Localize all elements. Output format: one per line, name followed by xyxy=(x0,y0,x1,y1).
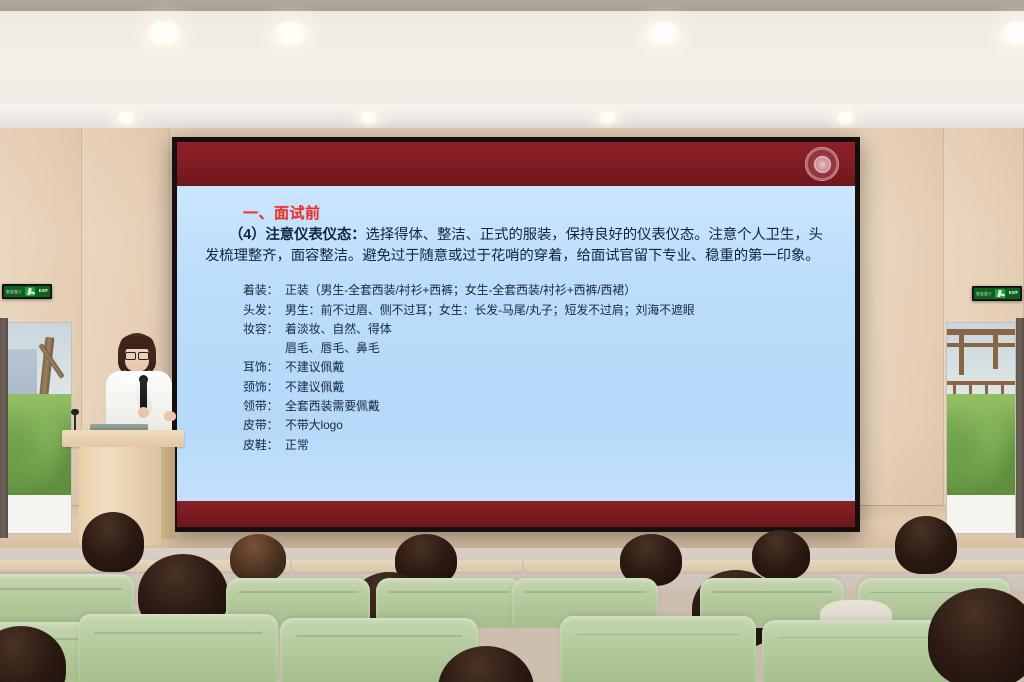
slide-heading: 一、面试前 xyxy=(243,202,827,223)
list-item: 领带：全套西装需要佩戴 xyxy=(243,397,827,416)
exit-sign-right: 安全出口 EXIT xyxy=(972,286,1022,301)
lecture-hall-scene: 安全出口 EXIT 安全出口 EXIT 一、面试前 （4）注意仪表仪态：选择得体… xyxy=(0,0,1024,682)
presenter-fringe xyxy=(120,336,154,349)
list-item-key: 耳饰： xyxy=(243,358,285,377)
podium-microphone-icon xyxy=(74,413,76,431)
exit-sign-face: 安全出口 EXIT xyxy=(4,286,50,297)
list-item-key: 头发： xyxy=(243,301,285,320)
exit-label-en: EXIT xyxy=(39,289,48,294)
list-item: 头发：男生：前不过眉、侧不过耳；女生：长发-马尾/丸子；短发不过肩；刘海不遮眼 xyxy=(243,301,827,320)
list-item-value: 不带大logo xyxy=(285,418,343,432)
projection-screen[interactable]: 一、面试前 （4）注意仪表仪态：选择得体、整洁、正式的服装，保持良好的仪表仪态。… xyxy=(172,137,860,532)
window-pier-left xyxy=(0,318,8,538)
slide-paragraph-lead: （4）注意仪表仪态： xyxy=(229,227,366,243)
list-item-value: 正常 xyxy=(285,438,309,452)
list-item-value: 正装（男生-全套西装/衬衫+西裤；女生-全套西装/衬衫+西裤/西裙） xyxy=(285,283,636,297)
slide-detail-list: 着装：正装（男生-全套西装/衬衫+西裤；女生-全套西装/衬衫+西裤/西裙） 头发… xyxy=(243,281,827,455)
list-item-key: 妆容： xyxy=(243,320,285,339)
exit-label-cn: 安全出口 xyxy=(976,292,991,296)
slide-footer-band xyxy=(177,501,855,527)
list-item-key: 着装： xyxy=(243,281,285,300)
exit-sign-face: 安全出口 EXIT xyxy=(974,288,1020,299)
window-pier-right xyxy=(1016,318,1024,538)
ceiling-downlight xyxy=(645,21,681,47)
ceiling-downlight xyxy=(359,111,378,125)
list-item: 皮鞋：正常 xyxy=(243,436,827,455)
exit-sign-left: 安全出口 EXIT xyxy=(2,284,52,299)
list-item: 耳饰：不建议佩戴 xyxy=(243,358,827,377)
list-item-key: 皮带： xyxy=(243,416,285,435)
ceiling-downlight xyxy=(273,21,309,47)
slide-content: 一、面试前 （4）注意仪表仪态：选择得体、整洁、正式的服装，保持良好的仪表仪态。… xyxy=(177,186,855,501)
ceiling-downlight xyxy=(117,111,136,125)
glasses-icon xyxy=(125,352,149,358)
window-ground xyxy=(947,495,1015,533)
presenter-hand xyxy=(164,411,176,421)
list-item-value: 男生：前不过眉、侧不过耳；女生：长发-马尾/丸子；短发不过肩；刘海不遮眼 xyxy=(285,303,695,317)
list-item: 眉毛、唇毛、鼻毛 xyxy=(243,339,827,358)
pergola-beam xyxy=(947,329,1015,335)
podium-side xyxy=(161,447,175,539)
exit-label-cn: 安全出口 xyxy=(6,290,21,294)
list-item: 着装：正装（男生-全套西装/衬衫+西裤；女生-全套西装/衬衫+西裤/西裙） xyxy=(243,281,827,300)
list-item-key: 皮鞋： xyxy=(243,436,285,455)
railing-top xyxy=(947,381,1015,385)
emblem-inner-ring xyxy=(814,156,831,173)
auditorium-seat xyxy=(78,614,278,682)
list-item: 颈饰：不建议佩戴 xyxy=(243,378,827,397)
list-item-value: 不建议佩戴 xyxy=(285,360,344,374)
running-man-icon xyxy=(995,289,1005,298)
window-foliage xyxy=(947,394,1015,495)
pergola-beam xyxy=(947,343,1015,347)
ceiling-downlight xyxy=(836,111,855,125)
exit-label-en: EXIT xyxy=(1009,291,1018,296)
university-emblem-icon xyxy=(805,147,839,181)
pergola-post xyxy=(959,329,964,375)
audience-head xyxy=(752,530,810,580)
list-item-value: 不建议佩戴 xyxy=(285,380,344,394)
slide-banner xyxy=(177,142,855,186)
list-item-value: 着淡妆、自然、得体 xyxy=(285,322,392,336)
running-man-icon xyxy=(25,287,35,296)
list-item: 皮带：不带大logo xyxy=(243,416,827,435)
list-item: 妆容：着淡妆、自然、得体 xyxy=(243,320,827,339)
podium-top xyxy=(62,430,184,447)
ceiling-downlight xyxy=(598,111,617,125)
list-item-value: 全套西装需要佩戴 xyxy=(285,399,380,413)
auditorium-seat xyxy=(560,616,756,682)
audience-head xyxy=(230,534,286,582)
presenter-hand xyxy=(138,407,149,418)
audience-head xyxy=(82,512,144,572)
list-item-value: 眉毛、唇毛、鼻毛 xyxy=(285,341,380,355)
pergola-post xyxy=(993,329,998,369)
wall-panel xyxy=(860,128,944,548)
slide-paragraph: （4）注意仪表仪态：选择得体、整洁、正式的服装，保持良好的仪表仪态。注意个人卫生… xyxy=(205,225,827,267)
list-item-key: 颈饰： xyxy=(243,378,285,397)
presentation-slide[interactable]: 一、面试前 （4）注意仪表仪态：选择得体、整洁、正式的服装，保持良好的仪表仪态。… xyxy=(177,142,855,527)
audience-head xyxy=(895,516,957,574)
window-right xyxy=(946,322,1016,534)
list-item-key: 领带： xyxy=(243,397,285,416)
ceiling-downlight xyxy=(146,21,182,47)
